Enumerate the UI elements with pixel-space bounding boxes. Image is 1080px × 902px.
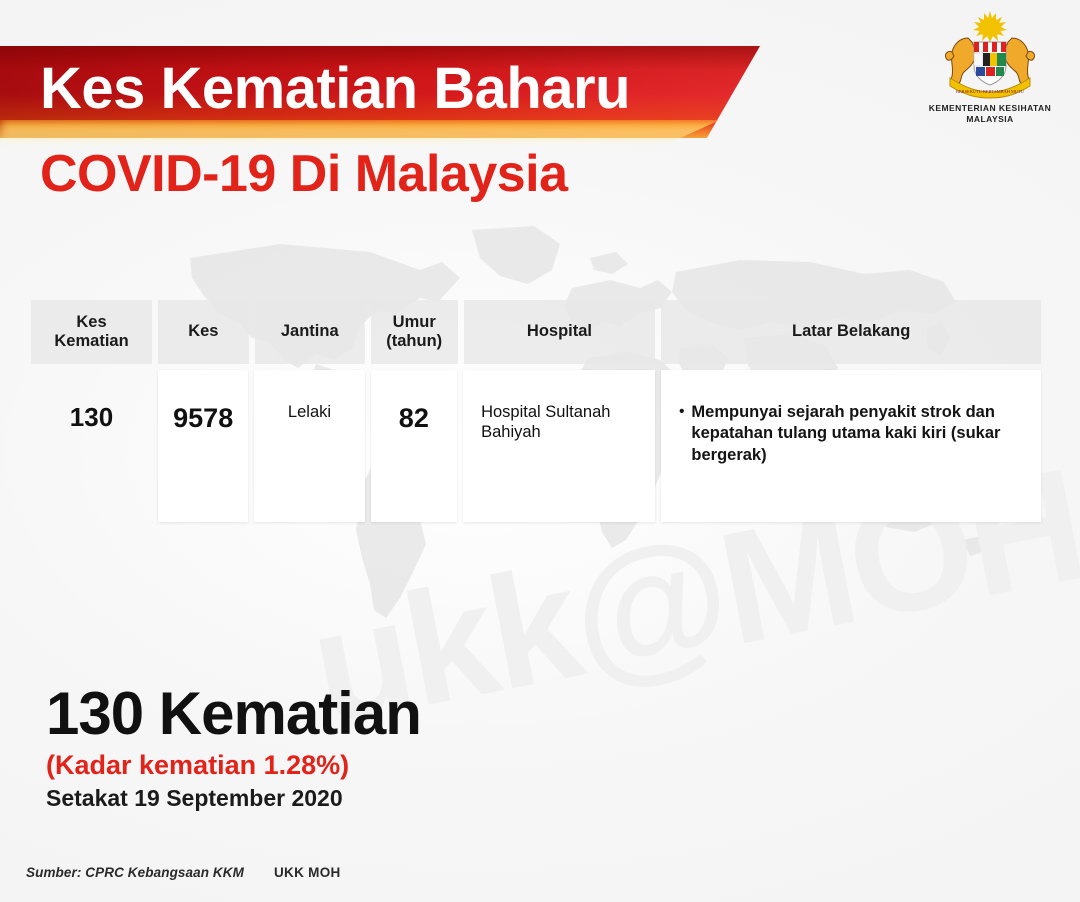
deaths-table: Kes Kematian Kes Jantina Umur (tahun) Ho… (31, 300, 1041, 522)
column-header-kes-kematian: Kes Kematian (31, 300, 152, 364)
cell-hospital: Hospital Sultanah Bahiyah (463, 370, 655, 522)
page-title-secondary: COVID-19 Di Malaysia (40, 148, 568, 200)
cell-umur: 82 (371, 370, 458, 522)
ministry-name-line2: MALAYSIA (922, 114, 1058, 125)
ministry-logo: BERSEKUTU BERTAMBAH MUTU KEMENTERIAN KES… (922, 8, 1058, 124)
malaysia-coat-of-arms-icon: BERSEKUTU BERTAMBAH MUTU (922, 8, 1058, 100)
header-text: Kes (54, 313, 128, 332)
svg-text:BERSEKUTU BERTAMBAH MUTU: BERSEKUTU BERTAMBAH MUTU (956, 89, 1025, 94)
ministry-name-line1: KEMENTERIAN KESIHATAN (922, 103, 1058, 114)
header-text: Umur (386, 313, 442, 332)
bullet-icon: • (679, 402, 684, 422)
total-deaths-label: 130 Kematian (46, 682, 421, 745)
footer-unit-label: UKK MOH (274, 865, 341, 880)
cell-latar-belakang: • Mempunyai sejarah penyakit strok dan k… (661, 370, 1041, 522)
footer-source-label: Sumber: CPRC Kebangsaan KKM (26, 865, 244, 880)
as-of-date-label: Setakat 19 September 2020 (46, 785, 421, 813)
infographic-canvas: ukk@MOH Kes Kematian Baharu COVID-19 Di … (0, 0, 1080, 902)
page-title-primary: Kes Kematian Baharu (40, 60, 630, 118)
cell-kes: 9578 (158, 370, 248, 522)
summary-block: 130 Kematian (Kadar kematian 1.28%) Seta… (46, 682, 421, 813)
latar-belakang-text: Mempunyai sejarah penyakit strok dan kep… (691, 402, 1041, 466)
cell-jantina: Lelaki (254, 370, 364, 522)
header-text: (tahun) (386, 332, 442, 351)
death-rate-label: (Kadar kematian 1.28%) (46, 749, 421, 781)
table-row: 130 9578 Lelaki 82 Hospital Sultanah Bah… (31, 370, 1041, 522)
column-header-latar-belakang: Latar Belakang (661, 300, 1041, 364)
column-header-hospital: Hospital (464, 300, 656, 364)
header-text: Kematian (54, 332, 128, 351)
column-header-kes: Kes (158, 300, 249, 364)
footer: Sumber: CPRC Kebangsaan KKM UKK MOH (26, 865, 341, 880)
table-header-row: Kes Kematian Kes Jantina Umur (tahun) Ho… (31, 300, 1041, 364)
cell-kes-kematian: 130 (31, 370, 152, 522)
column-header-umur: Umur (tahun) (371, 300, 458, 364)
column-header-jantina: Jantina (255, 300, 365, 364)
